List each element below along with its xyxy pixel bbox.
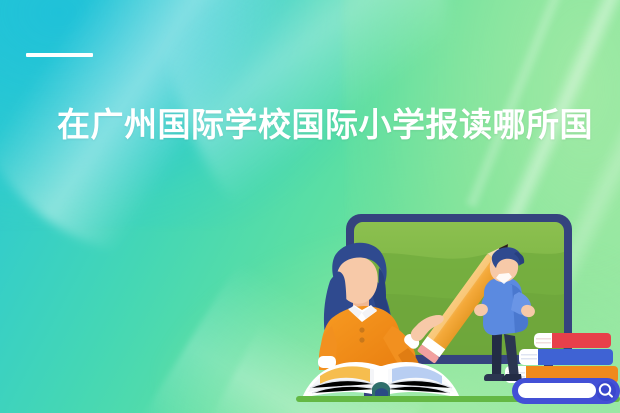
search-bar-icon[interactable] [512,378,620,404]
education-illustration-svg [296,206,620,413]
article-cover-banner: 在广州国际学校国际小学报读哪所国 [0,0,620,413]
accent-rule [26,53,93,57]
education-illustration [296,206,620,413]
page-title: 在广州国际学校国际小学报读哪所国 [57,103,620,147]
